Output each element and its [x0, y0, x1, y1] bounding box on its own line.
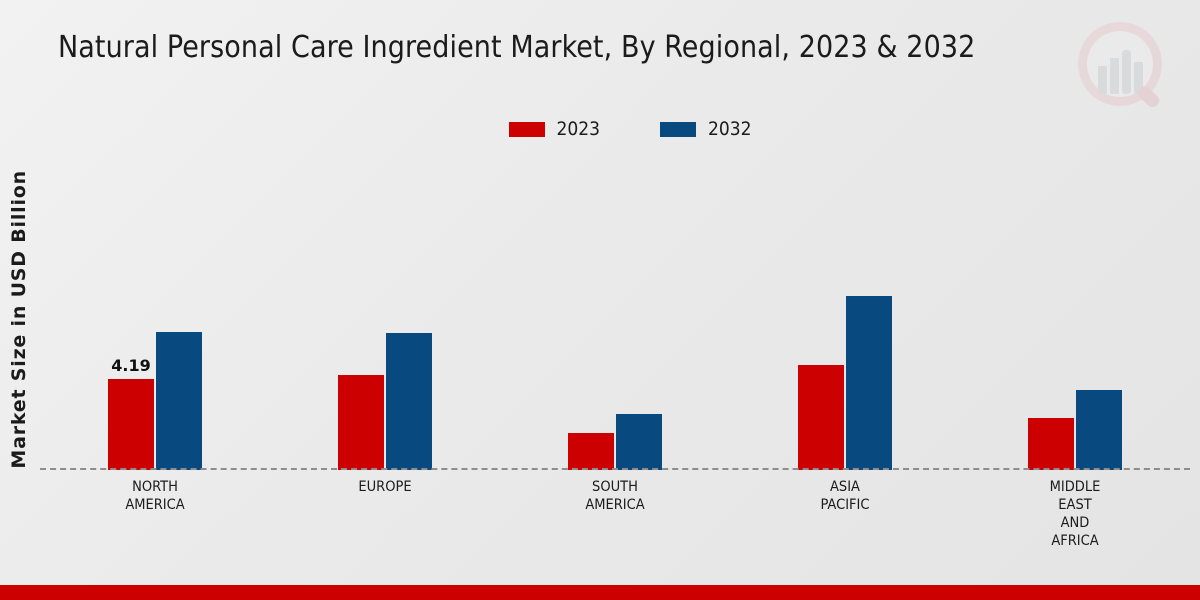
x-axis-label: SOUTHAMERICA: [500, 478, 730, 550]
x-axis-label-line: SOUTH: [500, 478, 730, 496]
legend-item-2032[interactable]: 2032: [660, 118, 752, 140]
legend-swatch-2032: [660, 122, 696, 137]
x-axis-label-line: EUROPE: [270, 478, 500, 496]
bar-2023[interactable]: [1028, 418, 1074, 470]
x-axis-label-line: AMERICA: [40, 496, 270, 514]
x-axis-label-line: AFRICA: [960, 532, 1190, 550]
chart-legend: 2023 2032: [0, 118, 1200, 140]
x-axis-label: NORTHAMERICA: [40, 478, 270, 550]
x-axis-label: MIDDLEEASTANDAFRICA: [960, 478, 1190, 550]
y-axis-title: Market Size in USD Billion: [2, 170, 36, 500]
bar-groups: 4.19: [40, 170, 1190, 470]
bar-value-label: 4.19: [111, 356, 150, 375]
page-title: Natural Personal Care Ingredient Market,…: [58, 30, 975, 65]
bar-group: [960, 170, 1190, 470]
plot-area: 4.19: [40, 170, 1190, 470]
legend-label-2032: 2032: [708, 118, 752, 140]
x-axis-label-line: AMERICA: [500, 496, 730, 514]
bar-group: 4.19: [40, 170, 270, 470]
legend-label-2023: 2023: [557, 118, 601, 140]
bar-2023[interactable]: [338, 375, 384, 470]
x-axis-label: ASIAPACIFIC: [730, 478, 960, 550]
bar-2023[interactable]: [798, 365, 844, 470]
y-axis-title-text: Market Size in USD Billion: [8, 170, 30, 469]
x-axis-labels: NORTHAMERICAEUROPESOUTHAMERICAASIAPACIFI…: [40, 478, 1190, 550]
bar-2032[interactable]: [156, 332, 202, 470]
x-axis-label-line: ASIA: [730, 478, 960, 496]
x-axis-baseline: [40, 468, 1190, 470]
bar-2032[interactable]: [616, 414, 662, 470]
x-axis-label-line: PACIFIC: [730, 496, 960, 514]
x-axis-label-line: EAST: [960, 496, 1190, 514]
bar-2023[interactable]: 4.19: [108, 379, 154, 470]
bar-2032[interactable]: [1076, 390, 1122, 470]
bar-2023[interactable]: [568, 433, 614, 470]
x-axis-label-line: MIDDLE: [960, 478, 1190, 496]
x-axis-label-line: NORTH: [40, 478, 270, 496]
bar-group: [270, 170, 500, 470]
bar-2032[interactable]: [386, 333, 432, 470]
bar-group: [730, 170, 960, 470]
bar-2032[interactable]: [846, 296, 892, 470]
legend-item-2023[interactable]: 2023: [509, 118, 601, 140]
bar-group: [500, 170, 730, 470]
market-research-future-logo-icon: [1070, 18, 1178, 122]
footer-accent-bar: [0, 585, 1200, 600]
x-axis-label: EUROPE: [270, 478, 500, 550]
chart-page: Natural Personal Care Ingredient Market,…: [0, 0, 1200, 600]
legend-swatch-2023: [509, 122, 545, 137]
x-axis-label-line: AND: [960, 514, 1190, 532]
